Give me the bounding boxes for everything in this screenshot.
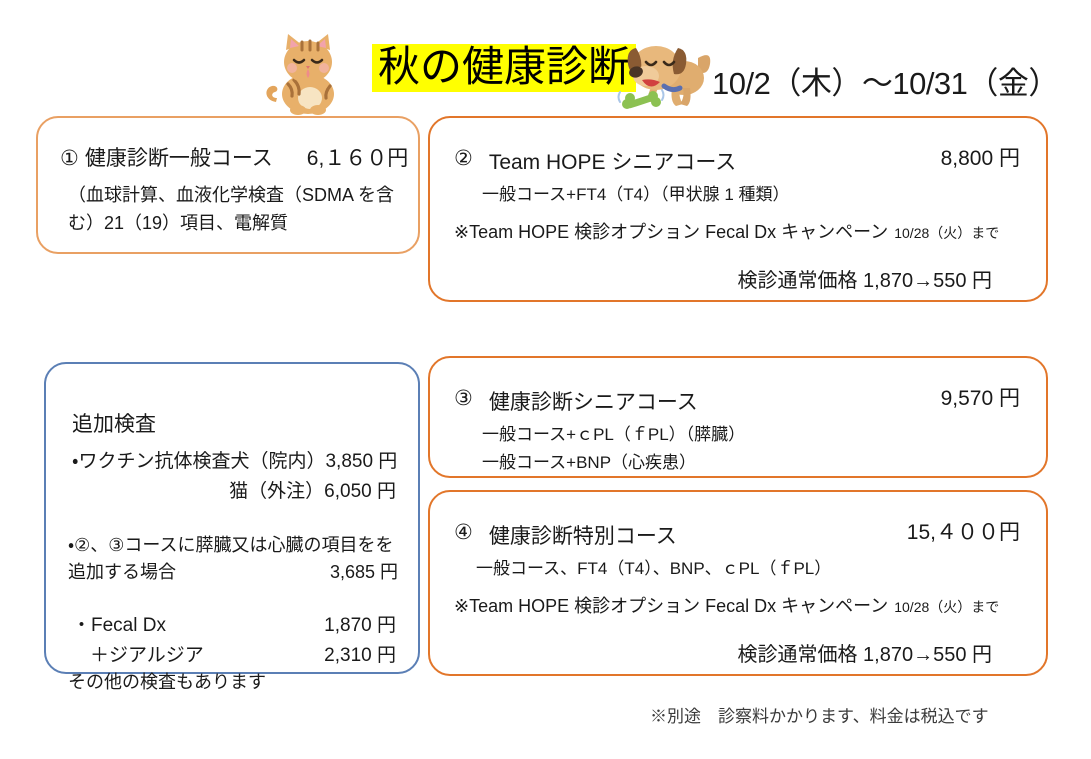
cat-illustration	[258, 32, 354, 116]
additional-tests-organ-price: 3,685 円	[330, 559, 398, 586]
course-special-sub1: 一般コース、FT4（T4）、BNP、ｃPL（ｆPL）	[476, 554, 831, 579]
course-card-general: ①健康診断一般コース6,１６０円 （血球計算、血液化学検査（SDMA を含む）2…	[36, 116, 420, 254]
course-teamhope-campaign-text: ※Team HOPE 検診オプション Fecal Dx キャンペーン	[454, 222, 888, 242]
course-senior-heading: ③ 健康診断シニアコース 9,570 円	[454, 382, 1020, 416]
additional-tests-vaccine-dog-price: 犬（院内）3,850 円	[230, 446, 397, 473]
course-general-price: 6,１６０円	[307, 147, 409, 170]
additional-tests-vaccine-row: ・ワクチン抗体検査 犬（院内）3,850 円	[72, 446, 396, 473]
course-senior-price: 9,570 円	[941, 382, 1020, 412]
course-senior-name: 健康診断シニアコース	[489, 386, 698, 416]
additional-tests-other-note: その他の検査もあります	[68, 668, 266, 694]
course-teamhope-name: Team HOPE シニアコース	[489, 146, 736, 176]
poster-title-text: 秋の健康診断	[378, 42, 630, 91]
campaign-date-range: 10/2（木）〜10/31（金）	[712, 58, 1059, 103]
course-special-campaign-note: ※Team HOPE 検診オプション Fecal Dx キャンペーン10/28（…	[454, 592, 999, 618]
course-special-number: ④	[454, 520, 473, 550]
poster-title: 秋の健康診断	[372, 44, 636, 92]
additional-tests-vaccine-label: ・ワクチン抗体検査	[72, 446, 230, 473]
additional-tests-giardia-label: ＋ジアルジア	[90, 640, 204, 667]
course-special-heading: ④ 健康診断特別コース 15,４００円	[454, 516, 1020, 550]
footer-disclaimer: ※別途 診察料かかります、料金は税込です	[650, 702, 989, 727]
course-senior-sub2: 一般コース+BNP（心疾患）	[482, 448, 696, 473]
course-teamhope-promo-price: 検診通常価格 1,870→550 円	[737, 264, 992, 293]
course-teamhope-number: ②	[454, 146, 473, 176]
course-special-campaign-date: 10/28（火）まで	[894, 599, 999, 615]
additional-tests-giardia-row: ＋ジアルジア 2,310 円	[90, 640, 396, 667]
dog-illustration	[612, 30, 716, 118]
course-special-promo-price: 検診通常価格 1,870→550 円	[737, 638, 992, 667]
course-special-campaign-text: ※Team HOPE 検診オプション Fecal Dx キャンペーン	[454, 596, 888, 616]
additional-tests-vaccine-cat-price: 猫（外注）6,050 円	[229, 476, 396, 503]
course-teamhope-price: 8,800 円	[941, 142, 1020, 172]
additional-tests-giardia-price: 2,310 円	[324, 640, 396, 667]
additional-tests-fecal-price: 1,870 円	[324, 610, 396, 637]
course-card-senior: ③ 健康診断シニアコース 9,570 円 一般コース+ｃPL（ｆPL）（膵臓） …	[428, 356, 1048, 478]
course-special-price: 15,４００円	[907, 516, 1020, 546]
course-card-teamhope-senior: ② Team HOPE シニアコース 8,800 円 一般コース+FT4（T4）…	[428, 116, 1048, 302]
additional-tests-title: 追加検査	[72, 408, 156, 438]
additional-tests-organ-row: ・②、③コースに膵臓又は心臓の項目をを追加する場合 3,685 円	[68, 532, 398, 586]
course-special-name: 健康診断特別コース	[489, 520, 677, 550]
course-general-name: 健康診断一般コース	[85, 147, 273, 170]
course-teamhope-campaign-date: 10/28（火）まで	[894, 225, 999, 241]
course-general-number: ①	[60, 147, 79, 170]
course-teamhope-campaign-note: ※Team HOPE 検診オプション Fecal Dx キャンペーン10/28（…	[454, 218, 999, 244]
additional-tests-fecal-row: ・Fecal Dx 1,870 円	[72, 610, 396, 637]
course-card-special: ④ 健康診断特別コース 15,４００円 一般コース、FT4（T4）、BNP、ｃP…	[428, 490, 1048, 676]
course-general-detail: （血球計算、血液化学検査（SDMA を含む）21（19）項目、電解質	[68, 182, 406, 238]
course-teamhope-heading: ② Team HOPE シニアコース 8,800 円	[454, 142, 1020, 176]
poster-root: 秋の健康診断	[0, 0, 1091, 759]
course-senior-number: ③	[454, 386, 473, 416]
course-general-heading: ①健康診断一般コース6,１６０円	[60, 142, 408, 172]
additional-tests-fecal-label: ・Fecal Dx	[72, 610, 166, 637]
course-senior-sub1: 一般コース+ｃPL（ｆPL）（膵臓）	[482, 420, 745, 445]
additional-tests-card: 追加検査 ・ワクチン抗体検査 犬（院内）3,850 円 猫（外注）6,050 円…	[44, 362, 420, 674]
course-teamhope-sub1: 一般コース+FT4（T4）（甲状腺 1 種類）	[482, 180, 790, 205]
